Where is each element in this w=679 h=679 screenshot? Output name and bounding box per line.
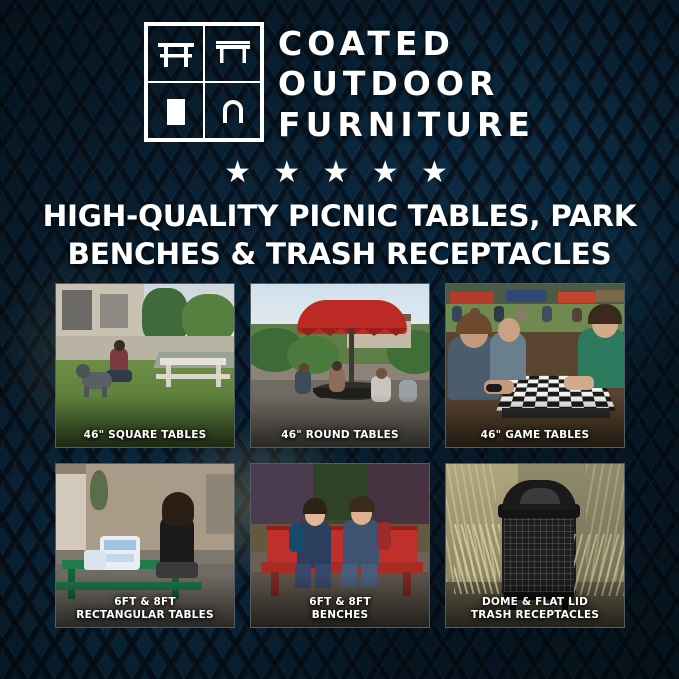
logo-line-3: FURNITURE [278, 105, 535, 145]
logo-line-2: OUTDOOR [278, 64, 535, 104]
logo-mark [144, 22, 264, 142]
picnic-table-icon [147, 25, 204, 82]
product-card-rectangular-tables[interactable]: 6FT & 8FT RECTANGULAR TABLES [55, 463, 235, 628]
logo-wordmark: COATED OUTDOOR FURNITURE [278, 24, 535, 145]
caption-line-1: 6FT & 8FT [60, 596, 230, 608]
page-title: HIGH-QUALITY PICNIC TABLES, PARK BENCHES… [0, 198, 679, 274]
headline-line-1: HIGH-QUALITY PICNIC TABLES, PARK [26, 198, 653, 236]
caption-line-2: TRASH RECEPTACLES [450, 609, 620, 621]
product-caption: 46" GAME TABLES [446, 429, 624, 441]
product-caption: 46" SQUARE TABLES [56, 429, 234, 441]
headline-line-2: BENCHES & TRASH RECEPTACLES [26, 236, 653, 274]
arch-bench-icon [204, 82, 261, 139]
caption-line-2: BENCHES [255, 609, 425, 621]
caption-line-1: 46" GAME TABLES [481, 429, 590, 441]
caption-line-1: 46" SQUARE TABLES [84, 429, 207, 441]
caption-line-1: DOME & FLAT LID [450, 596, 620, 608]
product-card-benches[interactable]: 6FT & 8FT BENCHES [250, 463, 430, 628]
caption-line-1: 46" ROUND TABLES [281, 429, 399, 441]
product-card-round-tables[interactable]: 46" ROUND TABLES [250, 283, 430, 448]
caption-line-1: 6FT & 8FT [255, 596, 425, 608]
product-grid: 46" SQUARE TABLES [55, 283, 625, 628]
product-caption: 6FT & 8FT RECTANGULAR TABLES [56, 596, 234, 621]
product-caption: 46" ROUND TABLES [251, 429, 429, 441]
trash-receptacle-icon [147, 82, 204, 139]
brand-logo: COATED OUTDOOR FURNITURE [0, 22, 679, 145]
logo-line-1: COATED [278, 24, 535, 64]
star-rating: ★ ★ ★ ★ ★ [0, 158, 679, 188]
product-caption: 6FT & 8FT BENCHES [251, 596, 429, 621]
caption-line-2: RECTANGULAR TABLES [60, 609, 230, 621]
product-card-game-tables[interactable]: 46" GAME TABLES [445, 283, 625, 448]
product-caption: DOME & FLAT LID TRASH RECEPTACLES [446, 596, 624, 621]
product-poster: COATED OUTDOOR FURNITURE ★ ★ ★ ★ ★ HIGH-… [0, 0, 679, 679]
product-card-square-tables[interactable]: 46" SQUARE TABLES [55, 283, 235, 448]
product-card-trash-receptacles[interactable]: DOME & FLAT LID TRASH RECEPTACLES [445, 463, 625, 628]
bench-icon [204, 25, 261, 82]
